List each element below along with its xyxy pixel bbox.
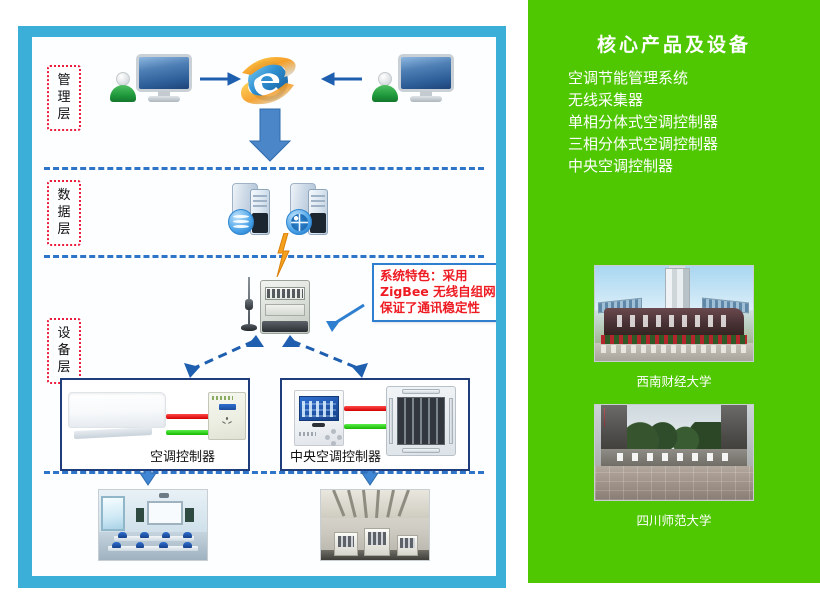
internet-explorer-icon [237,51,299,107]
classroom-chair [159,542,168,548]
database-server-icon [228,183,274,237]
person-body [372,85,398,102]
dashed-arrow-left-icon [192,341,254,369]
central-ac-controller-caption: 中央空调控制器 [290,446,381,465]
swufe-monument-inscription [617,315,731,326]
product-list-item: 三相分体式空调控制器 [568,133,718,155]
dashed-arrow-right-icon [292,341,360,369]
swufe-photo-caption: 西南财经大学 [528,371,820,390]
server-slot [253,200,267,202]
sicnu-plaza-tiles [595,466,753,500]
swufe-planters [601,345,746,354]
server-slot [311,195,325,197]
callout-line-3: 保证了通讯稳定性 [380,300,496,316]
ac-shell [68,392,166,428]
cassette-louver-bottom [402,448,440,453]
swufe-flower-bed [601,335,746,344]
arrow-down-icon [250,109,290,161]
wireless-collector-icon [236,277,312,339]
cassette-grille [397,397,446,446]
swufe-tower [665,268,690,312]
sicnu-trees [627,422,722,449]
layer-label-management: 管 理 层 [47,65,81,131]
product-list-item: 中央空调控制器 [568,155,718,177]
person-head [378,72,392,86]
classroom-chair [136,542,145,548]
diagram-canvas: 管 理 层 数 据 层 设 备 层 [0,0,820,595]
cassette-air-conditioner-icon [386,386,456,456]
server-front-panel [252,213,268,233]
dashed-arrow-left-head [184,363,200,378]
layer-label-management-char-2: 理 [49,89,79,106]
cable-green [344,424,388,429]
cassette-louver-top [402,389,440,394]
cable-red [166,414,210,419]
swufe-photo [594,265,754,362]
callout-pointer-head [326,321,340,332]
server-slot [253,195,267,197]
divider-management-data [44,167,484,170]
sicnu-photo [594,404,754,501]
sicnu-photo-caption: 四川师范大学 [528,510,820,529]
layer-label-data-char-3: 层 [49,221,79,238]
sicnu-name-inscription [617,453,728,462]
classroom-whiteboard [147,501,184,525]
divider-device-sites [44,471,484,474]
divider-data-device [44,255,484,258]
server-slot [311,205,325,207]
callout-zigbee-brand: ZigBee [380,284,429,299]
architecture-panel: 管 理 层 数 据 层 设 备 层 [18,26,506,588]
zigbee-callout: 系统特色：采用 ZigBee 无线自组网 保证了通讯稳定性 [372,263,496,322]
classroom-photo [98,489,208,561]
dashed-arrow-right-head [352,363,368,378]
database-glyph [233,215,249,230]
server-slot [311,200,325,202]
classroom-blackboard-right [185,508,194,522]
arrow-left-head [322,73,334,85]
thermostat-screen [299,396,339,421]
monitor-icon [398,54,454,102]
classroom-chair [118,532,127,538]
database-badge [228,209,254,235]
classroom-window [101,496,125,531]
sicnu-pylon-accent [604,408,605,427]
split-air-conditioner-icon [68,392,166,444]
layer-label-management-char-3: 层 [49,106,79,123]
callout-line-2-rest: 无线自组网 [433,284,496,299]
classroom-chair [112,542,121,548]
person-head [116,72,130,86]
socket-lcd [219,404,236,410]
cassette-side-left [389,398,393,444]
chiller-unit [397,535,419,556]
split-ac-controller-box[interactable]: 空调控制器 [60,378,250,471]
architecture-panel-inner: 管 理 层 数 据 层 设 备 层 [32,37,496,576]
antenna-knob [245,299,253,310]
meter-dial [265,304,305,316]
person-icon [372,72,398,102]
layer-label-device-char-2: 备 [49,342,79,359]
product-list-item: 无线采集器 [568,89,718,111]
classroom-chair [140,532,149,538]
lightning-bolt-icon [275,233,291,277]
thermostat-screen-readout [302,401,336,417]
classroom-chair [183,532,192,538]
socket-brand [212,396,234,400]
split-ac-controller-caption: 空调控制器 [150,446,215,465]
layer-label-management-char-1: 管 [49,72,79,89]
monitor-base [148,96,180,102]
product-list: 空调节能管理系统 无线采集器 单相分体式空调控制器 三相分体式空调控制器 中央空… [568,67,718,177]
central-ac-controller-box[interactable]: 中央空调控制器 [280,378,470,471]
products-panel-title: 核心产品及设备 [528,30,820,57]
product-list-item: 单相分体式空调控制器 [568,111,718,133]
meter-digits [267,289,303,298]
ac-vent [74,427,152,439]
classroom-projector [159,493,169,498]
callout-line-1: 系统特色：采用 [380,268,496,284]
machine-room-photo [320,489,430,561]
monitor-screen [398,54,454,92]
cable-red [344,406,388,411]
layer-label-device-char-3: 层 [49,359,79,376]
web-server-icon [286,183,332,237]
layer-label-data-char-2: 据 [49,204,79,221]
layer-label-device: 设 备 层 [47,318,81,384]
server-front-panel [310,213,326,233]
classroom-chair [183,542,192,548]
layer-label-device-char-1: 设 [49,325,79,342]
thermostat-keys [325,429,339,441]
cable-green [166,430,210,435]
callout-pointer-icon [332,305,364,325]
socket-controller-icon [208,392,246,440]
web-badge [286,209,312,235]
classroom-chair [162,532,171,538]
layer-label-data: 数 据 层 [47,180,81,246]
meter-terminal-cover [262,321,308,332]
products-panel: 核心产品及设备 空调节能管理系统 无线采集器 单相分体式空调控制器 三相分体式空… [528,0,820,583]
globe-glyph [291,214,308,231]
monitor-screen [136,54,192,92]
socket-plug-holes [220,417,234,429]
callout-line-2: ZigBee 无线自组网 [380,284,496,300]
layer-label-data-char-1: 数 [49,187,79,204]
product-list-item: 空调节能管理系统 [568,67,718,89]
thermostat-brand [299,432,316,436]
wall-thermostat-icon [294,390,344,446]
monitor-base [410,96,442,102]
chiller-unit [364,528,390,556]
chiller-unit [334,532,358,556]
person-body [110,85,136,102]
thermostat-ir-strip [312,423,324,427]
monitor-icon [136,54,192,102]
antenna-base [241,324,257,331]
classroom-blackboard-left [136,508,145,522]
cassette-side-right [449,398,453,444]
server-slot [253,205,267,207]
person-icon [110,72,136,102]
